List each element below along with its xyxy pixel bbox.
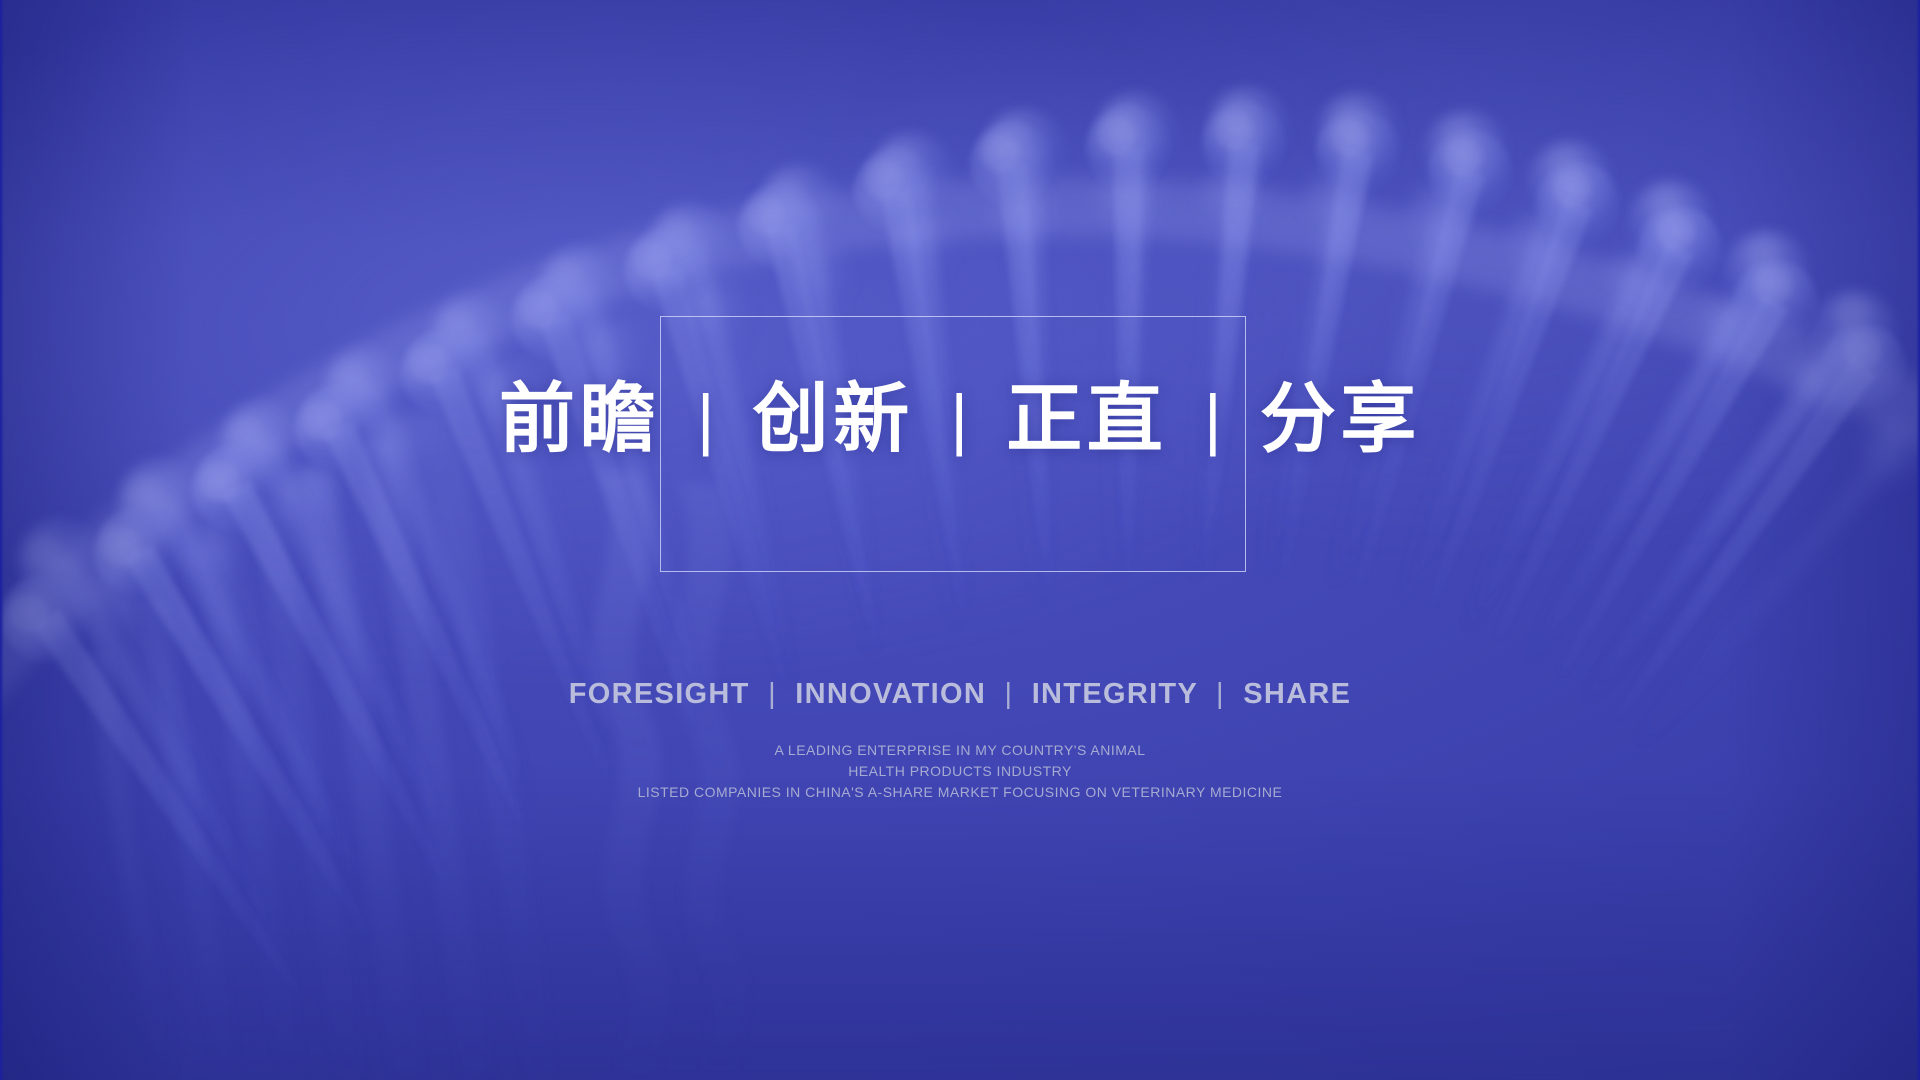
headline-word-share: 分享 [1260, 382, 1421, 458]
caption-line-1: A LEADING ENTERPRISE IN MY COUNTRY'S ANI… [0, 740, 1920, 761]
tagline-word-integrity: INTEGRITY [1032, 678, 1198, 710]
caption-line-3: LISTED COMPANIES IN CHINA'S A-SHARE MARK… [0, 782, 1920, 803]
tagline-word-innovation: INNOVATION [795, 678, 986, 710]
headline-separator-1: | [683, 385, 730, 453]
banner-content: 前瞻 | 创新 | 正直 | 分享 FORESIGHT | INNOVATION… [0, 0, 1920, 1080]
banner-stage: 前瞻 | 创新 | 正直 | 分享 FORESIGHT | INNOVATION… [0, 0, 1920, 1080]
headline-word-foresight: 前瞻 [499, 382, 660, 458]
company-description-caption: A LEADING ENTERPRISE IN MY COUNTRY'S ANI… [0, 740, 1920, 803]
tagline-word-share: SHARE [1243, 678, 1351, 710]
tagline-separator-2: | [995, 678, 1022, 711]
tagline-separator-3: | [1207, 678, 1234, 711]
tagline-word-foresight: FORESIGHT [569, 678, 750, 710]
caption-line-2: HEALTH PRODUCTS INDUSTRY [0, 761, 1920, 782]
headline-word-integrity: 正直 [1006, 382, 1167, 458]
tagline-values-english: FORESIGHT | INNOVATION | INTEGRITY | SHA… [0, 678, 1920, 711]
headline-values-chinese: 前瞻 | 创新 | 正直 | 分享 [0, 382, 1920, 458]
headline-separator-2: | [936, 385, 983, 453]
headline-separator-3: | [1190, 385, 1237, 453]
tagline-separator-1: | [759, 678, 786, 711]
headline-word-innovation: 创新 [753, 382, 914, 458]
